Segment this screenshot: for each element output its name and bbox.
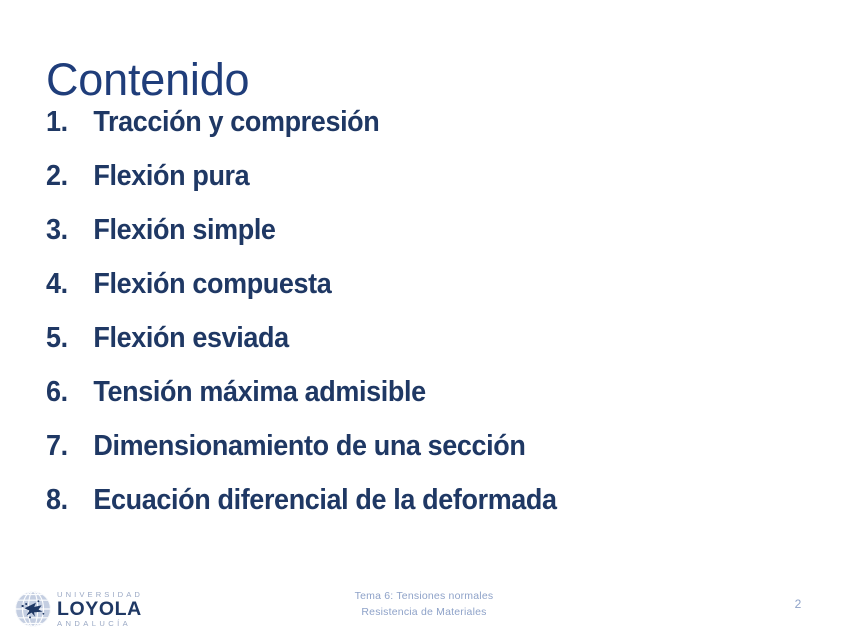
content-outline-list: 1. Tracción y compresión 2. Flexión pura… <box>46 105 746 537</box>
logo-main-text: LOYOLA <box>57 600 143 619</box>
list-item-label: Ecuación diferencial de la deformada <box>93 483 556 517</box>
list-item: 1. Tracción y compresión <box>46 105 697 159</box>
university-logo: UNIVERSIDAD LOYOLA ANDALUCÍA <box>14 589 164 629</box>
list-item-label: Flexión compuesta <box>93 267 331 301</box>
list-item-number: 7. <box>46 429 93 463</box>
list-item: 6. Tensión máxima admisible <box>46 375 697 429</box>
list-item: 4. Flexión compuesta <box>46 267 697 321</box>
list-item-number: 8. <box>46 483 93 517</box>
list-item-label: Flexión esviada <box>93 321 288 355</box>
list-item-number: 1. <box>46 105 93 139</box>
list-item-label: Flexión pura <box>93 159 249 193</box>
list-item: 2. Flexión pura <box>46 159 697 213</box>
globe-icon <box>14 590 52 628</box>
list-item-label: Tracción y compresión <box>93 105 379 139</box>
list-item-number: 5. <box>46 321 93 355</box>
list-item: 5. Flexión esviada <box>46 321 697 375</box>
list-item: 3. Flexión simple <box>46 213 697 267</box>
list-item: 8. Ecuación diferencial de la deformada <box>46 483 697 537</box>
list-item-number: 4. <box>46 267 93 301</box>
list-item: 7. Dimensionamiento de una sección <box>46 429 697 483</box>
logo-bottom-text: ANDALUCÍA <box>57 620 143 628</box>
page-number: 2 <box>786 597 810 611</box>
list-item-number: 3. <box>46 213 93 247</box>
presentation-slide: Contenido 1. Tracción y compresión 2. Fl… <box>0 0 848 637</box>
list-item-label: Tensión máxima admisible <box>93 375 425 409</box>
list-item-number: 6. <box>46 375 93 409</box>
list-item-label: Dimensionamiento de una sección <box>93 429 525 463</box>
list-item-label: Flexión simple <box>93 213 275 247</box>
list-item-number: 2. <box>46 159 93 193</box>
page-title: Contenido <box>46 56 249 103</box>
logo-wordmark: UNIVERSIDAD LOYOLA ANDALUCÍA <box>57 591 143 627</box>
